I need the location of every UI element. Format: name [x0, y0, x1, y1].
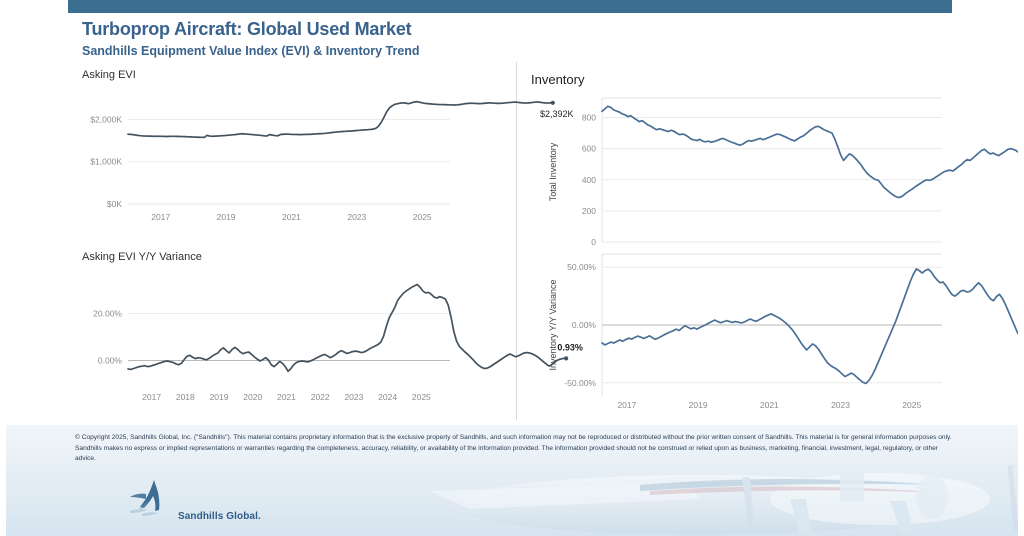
total-inventory-ytick: 400	[582, 175, 596, 185]
top-accent-bar	[68, 0, 952, 13]
inventory-yy-axis-title: Inventory Y/Y Variance	[548, 279, 558, 370]
total-inventory-axis-title: Total Inventory	[548, 142, 558, 201]
inventory-yy-xtick: 2021	[760, 400, 779, 410]
asking-evi-yy-xtick: 2024	[378, 392, 397, 402]
asking-evi-yy-xtick: 2023	[344, 392, 363, 402]
asking-evi-yy-ytick: 20.00%	[93, 309, 122, 319]
inventory-yy-xtick: 2025	[902, 400, 921, 410]
asking-evi-xtick: 2021	[282, 212, 301, 222]
asking-evi-xtick: 2017	[151, 212, 170, 222]
asking-evi-ytick: $0K	[107, 199, 122, 209]
inventory-yy-svg: -50.00%0.00%50.00%20172019202120232025In…	[524, 244, 956, 422]
inventory-yy-ytick: 0.00%	[572, 320, 597, 330]
asking-evi-yy-line	[128, 284, 566, 371]
inventory-yy-ytick: -50.00%	[564, 378, 596, 388]
page-subtitle: Sandhills Equipment Value Index (EVI) & …	[82, 44, 420, 60]
asking-evi-yy-xtick: 2019	[210, 392, 229, 402]
asking-evi-yy-heading: Asking EVI Y/Y Variance	[82, 251, 202, 263]
inventory-yy-xtick: 2019	[689, 400, 708, 410]
chart-inventory-yy[interactable]: -50.00%0.00%50.00%20172019202120232025In…	[524, 244, 956, 422]
left-page-margin	[0, 0, 6, 536]
inventory-yy-xtick: 2023	[831, 400, 850, 410]
asking-evi-ytick: $2,000K	[90, 114, 122, 124]
chart-asking-evi-yy[interactable]: 0.00%20.00%20172018201920202021202220232…	[76, 264, 506, 414]
asking-evi-yy-xtick: 2018	[176, 392, 195, 402]
sandhills-logo: Sandhills Global.	[128, 478, 261, 522]
report-page: Turboprop Aircraft: Global Used Market S…	[0, 0, 1024, 536]
asking-evi-xtick: 2019	[217, 212, 236, 222]
asking-evi-yy-xtick: 2022	[311, 392, 330, 402]
total-inventory-svg: 0200400600800Total Inventory	[524, 90, 956, 256]
total-inventory-ytick: 600	[582, 144, 596, 154]
asking-evi-yy-svg: 0.00%20.00%20172018201920202021202220232…	[76, 264, 506, 414]
asking-evi-yy-xtick: 2020	[243, 392, 262, 402]
asking-evi-heading: Asking EVI	[82, 69, 136, 81]
page-title: Turboprop Aircraft: Global Used Market	[82, 18, 420, 41]
right-page-margin	[1018, 0, 1024, 536]
copyright-text: © Copyright 2025, Sandhills Global, Inc.…	[75, 433, 955, 465]
panel-divider	[516, 62, 517, 420]
inventory-yy-line	[602, 269, 1024, 384]
chart-asking-evi[interactable]: $0K$1,000K$2,000K20172019202120232025$2,…	[76, 84, 506, 234]
asking-evi-yy-xtick: 2017	[142, 392, 161, 402]
inventory-yy-xtick: 2017	[617, 400, 636, 410]
total-inventory-line	[602, 106, 1024, 197]
asking-evi-svg: $0K$1,000K$2,000K20172019202120232025$2,…	[76, 84, 506, 234]
inventory-yy-ytick: 50.00%	[567, 262, 596, 272]
asking-evi-yy-xtick: 2021	[277, 392, 296, 402]
asking-evi-yy-xtick: 2025	[412, 392, 431, 402]
asking-evi-xtick: 2023	[347, 212, 366, 222]
total-inventory-ytick: 200	[582, 206, 596, 216]
asking-evi-yy-ytick: 0.00%	[98, 356, 123, 366]
title-block: Turboprop Aircraft: Global Used Market S…	[82, 18, 420, 59]
chart-total-inventory[interactable]: 0200400600800Total Inventory	[524, 90, 956, 256]
total-inventory-ytick: 800	[582, 113, 596, 123]
logo-text: Sandhills Global.	[178, 511, 261, 522]
inventory-heading: Inventory	[531, 72, 584, 87]
crane-bird-icon	[128, 478, 174, 522]
asking-evi-xtick: 2025	[413, 212, 432, 222]
asking-evi-ytick: $1,000K	[90, 157, 122, 167]
